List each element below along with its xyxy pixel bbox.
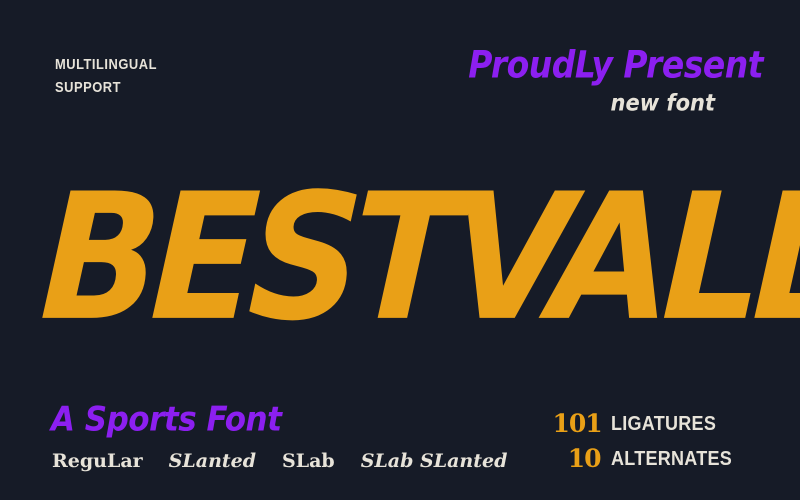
stat-row-alternates: 10 ALTERNATES: [553, 441, 745, 476]
style-variant-list: ReguLar SLanted SLab SLab SLanted: [52, 452, 507, 471]
present-block: ProudLy Present new font: [468, 50, 763, 115]
alternates-label: ALTERNATES: [611, 449, 732, 469]
style-variant-regular: ReguLar: [52, 452, 143, 471]
multilingual-support-label: MULTILINGUAL SUPPORT: [55, 54, 157, 99]
alternates-count: 10: [553, 446, 611, 471]
style-variant-slab: SLab: [282, 452, 335, 471]
stat-row-ligatures: 101 LIGATURES: [553, 406, 745, 441]
feature-stats-list: 101 LIGATURES 10 ALTERNATES: [553, 406, 745, 476]
style-variant-slab-slanted: SLab SLanted: [361, 452, 508, 471]
hero-wordmark-area: BESTVALL: [0, 168, 800, 338]
ligatures-count: 101: [553, 411, 611, 436]
hero-wordmark: BESTVALL: [38, 168, 800, 338]
new-font-subline: new font: [468, 92, 715, 115]
proudly-present-headline: ProudLy Present: [468, 46, 763, 83]
ligatures-label: LIGATURES: [611, 414, 716, 434]
style-variant-slanted: SLanted: [169, 452, 256, 471]
sports-font-tagline: A Sports Font: [51, 403, 281, 437]
font-promo-poster: MULTILINGUAL SUPPORT ProudLy Present new…: [0, 0, 800, 500]
